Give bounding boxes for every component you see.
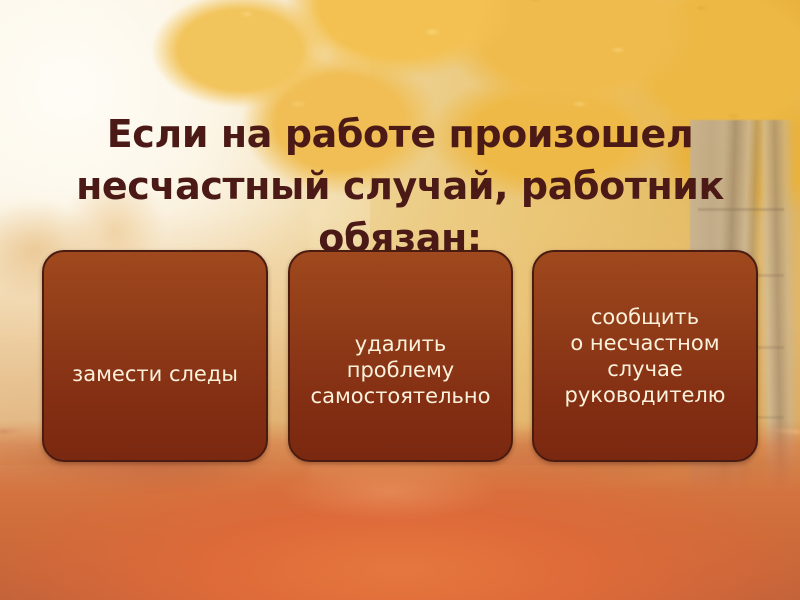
answer-option-3[interactable]: сообщить о несчастном случае руководител…	[532, 250, 758, 462]
answer-option-2-label: удалить проблему самостоятельно	[305, 331, 497, 409]
question-title: Если на работе произошел несчастный случ…	[0, 108, 800, 264]
answer-option-1-label: замести следы	[66, 361, 244, 387]
answer-option-1[interactable]: замести следы	[42, 250, 268, 462]
quiz-slide: Если на работе произошел несчастный случ…	[0, 0, 800, 600]
answer-option-3-label: сообщить о несчастном случае руководител…	[559, 304, 732, 408]
answer-option-2[interactable]: удалить проблему самостоятельно	[288, 250, 513, 462]
